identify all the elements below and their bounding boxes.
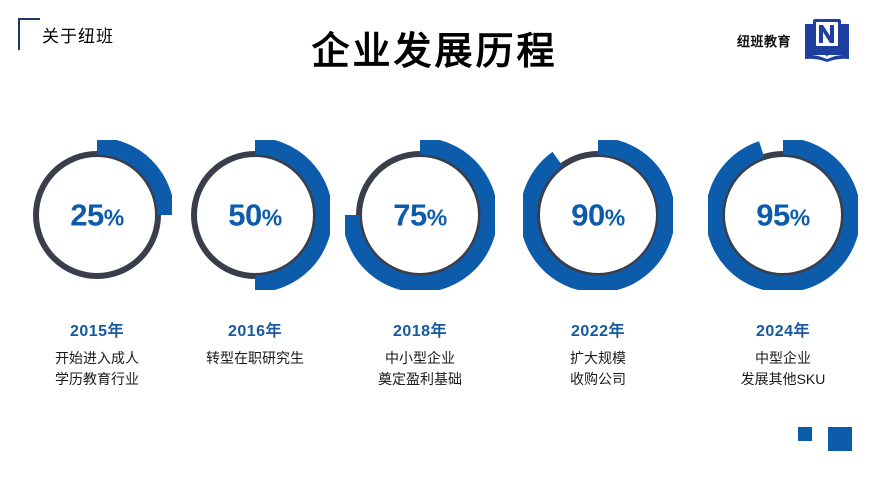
desc-line: 发展其他SKU — [696, 369, 869, 390]
milestone-item-5[interactable]: 95% 2024年 中型企业 发展其他SKU — [696, 140, 869, 390]
desc-line: 扩大规模 — [511, 348, 685, 369]
milestone-year-1: 2015年 — [10, 317, 184, 341]
desc-line: 转型在职研究生 — [168, 348, 342, 369]
donut-value-1: 25% — [22, 200, 172, 231]
milestone-desc-2: 转型在职研究生 — [168, 348, 342, 369]
donut-value-2: 50% — [180, 200, 330, 231]
donut-value-4: 90% — [523, 200, 673, 231]
donut-chart-4: 90% — [523, 140, 673, 290]
desc-line: 奠定盈利基础 — [333, 369, 507, 390]
desc-line: 学历教育行业 — [10, 369, 184, 390]
milestone-year-3: 2018年 — [333, 317, 507, 341]
book-n-logo-icon — [801, 14, 853, 66]
milestone-desc-4: 扩大规模 收购公司 — [511, 348, 685, 390]
desc-line: 开始进入成人 — [10, 348, 184, 369]
donut-value-3: 75% — [345, 200, 495, 231]
desc-line: 中型企业 — [696, 348, 869, 369]
brand-name: 纽班教育 — [737, 31, 791, 50]
milestone-row: 25% 2015年 开始进入成人 学历教育行业 50% 2016年 转型在职研究… — [0, 140, 869, 440]
brand-lockup: 纽班教育 — [737, 14, 853, 66]
donut-chart-1: 25% — [22, 140, 172, 290]
decor-square-small — [798, 427, 812, 441]
desc-line: 中小型企业 — [333, 348, 507, 369]
milestone-desc-5: 中型企业 发展其他SKU — [696, 348, 869, 390]
milestone-item-1[interactable]: 25% 2015年 开始进入成人 学历教育行业 — [10, 140, 184, 390]
milestone-item-2[interactable]: 50% 2016年 转型在职研究生 — [168, 140, 342, 369]
milestone-year-4: 2022年 — [511, 317, 685, 341]
decor-square-large — [828, 427, 852, 451]
donut-chart-5: 95% — [708, 140, 858, 290]
milestone-item-4[interactable]: 90% 2022年 扩大规模 收购公司 — [511, 140, 685, 390]
donut-chart-2: 50% — [180, 140, 330, 290]
milestone-desc-3: 中小型企业 奠定盈利基础 — [333, 348, 507, 390]
donut-value-5: 95% — [708, 200, 858, 231]
milestone-year-2: 2016年 — [168, 317, 342, 341]
milestone-desc-1: 开始进入成人 学历教育行业 — [10, 348, 184, 390]
milestone-item-3[interactable]: 75% 2018年 中小型企业 奠定盈利基础 — [333, 140, 507, 390]
slide-canvas: 关于纽班 企业发展历程 纽班教育 25% 2 — [0, 0, 869, 477]
desc-line: 收购公司 — [511, 369, 685, 390]
donut-chart-3: 75% — [345, 140, 495, 290]
milestone-year-5: 2024年 — [696, 317, 869, 341]
